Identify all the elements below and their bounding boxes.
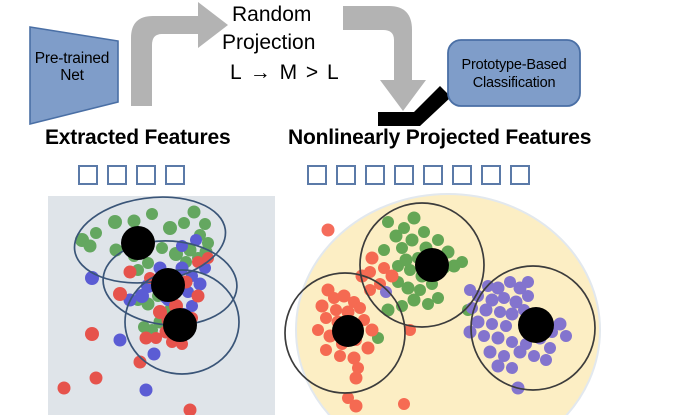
pretrained-net-label: Pre-trained Net xyxy=(26,50,118,85)
extracted-features-heading: Extracted Features xyxy=(45,126,230,150)
feature-square-extracted-1 xyxy=(78,165,98,185)
projected-features-squares xyxy=(307,165,530,185)
feature-square-projected-8 xyxy=(510,165,530,185)
feature-square-projected-4 xyxy=(394,165,414,185)
feature-square-extracted-4 xyxy=(165,165,185,185)
feature-square-projected-6 xyxy=(452,165,472,185)
feature-square-projected-3 xyxy=(365,165,385,185)
curved-arrow-up-right xyxy=(131,2,228,106)
extracted-features-squares xyxy=(78,165,185,185)
random-projection-line2: Projection xyxy=(222,31,315,55)
feature-square-projected-5 xyxy=(423,165,443,185)
random-projection-line1: Random xyxy=(232,3,311,27)
feature-square-projected-7 xyxy=(481,165,501,185)
curved-arrow-down-right xyxy=(343,6,426,111)
feature-square-extracted-3 xyxy=(136,165,156,185)
diagram-canvas: Pre-trained Net Random Projection L → M … xyxy=(0,0,673,415)
feature-square-projected-1 xyxy=(307,165,327,185)
prototype-classification-label: Prototype-Based Classification xyxy=(452,56,576,92)
projected-features-heading: Nonlinearly Projected Features xyxy=(288,126,591,150)
feature-square-projected-2 xyxy=(336,165,356,185)
feature-square-extracted-2 xyxy=(107,165,127,185)
random-projection-dimension-formula: L → M > L xyxy=(230,61,340,85)
